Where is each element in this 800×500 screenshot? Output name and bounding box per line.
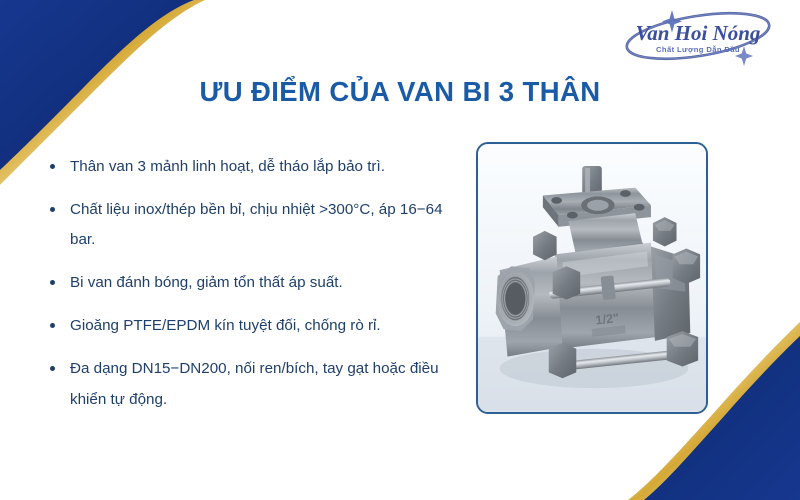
list-item-label: Bi van đánh bóng, giảm tổn thất áp suất. — [70, 274, 343, 291]
valve-size-marking: 1/2" — [595, 310, 620, 327]
bullet-dot-icon — [50, 323, 55, 328]
bullet-dot-icon — [50, 280, 55, 285]
list-item-label: Thân van 3 mảnh linh hoạt, dễ tháo lắp b… — [70, 158, 385, 175]
hex-nut-mid-right — [673, 249, 701, 284]
list-item: Đa dạng DN15−DN200, nối ren/bích, tay gạ… — [44, 354, 444, 414]
page-title: ƯU ĐIỂM CỦA VAN BI 3 THÂN — [120, 76, 680, 108]
list-item: Chất liệu inox/thép bền bỉ, chịu nhiệt >… — [44, 195, 444, 255]
bullet-dot-icon — [50, 207, 55, 212]
list-item-label: Chất liệu inox/thép bền bỉ, chịu nhiệt >… — [70, 201, 443, 248]
bullet-dot-icon — [50, 164, 55, 169]
list-item: Gioăng PTFE/EPDM kín tuyệt đối, chống rò… — [44, 311, 444, 341]
slide-canvas: Van Hoi Nóng Chất Lượng Dẫn Đầu ƯU ĐIỂM … — [0, 0, 800, 500]
list-item: Thân van 3 mảnh linh hoạt, dễ tháo lắp b… — [44, 152, 444, 182]
hex-nut-mid-left — [553, 266, 581, 299]
hex-nut-upper-right — [653, 217, 677, 246]
bullet-dot-icon — [50, 366, 55, 371]
logo-tagline-text: Chất Lượng Dẫn Đầu — [656, 45, 740, 54]
list-item-label: Gioăng PTFE/EPDM kín tuyệt đối, chống rò… — [70, 317, 381, 334]
hex-nut-lower-right — [667, 331, 698, 366]
hex-nut-lower-left — [549, 343, 577, 378]
hex-nut-upper-left — [533, 231, 557, 260]
list-item: Bi van đánh bóng, giảm tổn thất áp suất. — [44, 268, 444, 298]
benefits-list: Thân van 3 mảnh linh hoạt, dễ tháo lắp b… — [44, 152, 444, 428]
list-item-label: Đa dạng DN15−DN200, nối ren/bích, tay gạ… — [70, 360, 439, 407]
brand-logo[interactable]: Van Hoi Nóng Chất Lượng Dẫn Đầu — [608, 2, 788, 74]
logo-brand-text: Van Hoi Nóng — [636, 21, 761, 45]
product-image-frame: 1/2" — [476, 142, 708, 414]
product-photo-ball-valve: 1/2" — [478, 144, 706, 412]
